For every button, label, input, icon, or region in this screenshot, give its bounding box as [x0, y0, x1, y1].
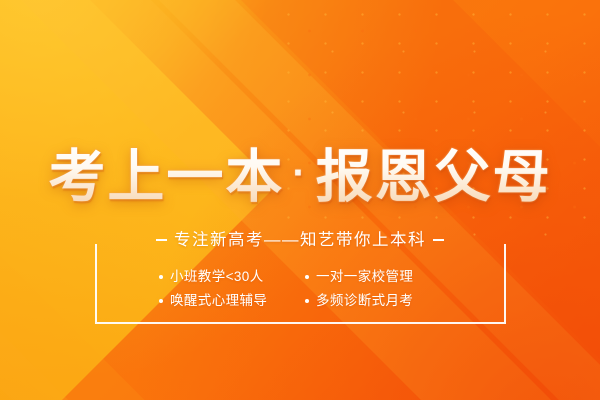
subtitle: 专注新高考——知艺带你上本科: [174, 230, 426, 250]
headline: 考上一本·报恩父母: [0, 142, 600, 208]
headline-separator-dot: ·: [284, 151, 315, 195]
feature-label: 唤醒式心理辅导: [170, 292, 267, 310]
bullet-dot-icon: [159, 299, 163, 303]
bullet-dot-icon: [305, 275, 309, 279]
feature-list: 小班教学<30人 一对一家校管理 唤醒式心理辅导 多频诊断式月考: [0, 268, 600, 310]
bullet-dot-icon: [305, 299, 309, 303]
list-item: 一对一家校管理: [305, 268, 441, 286]
feature-label: 小班教学<30人: [170, 268, 264, 286]
promo-banner: 考上一本·报恩父母 专注新高考——知艺带你上本科 小班教学<30人 一对一家校管…: [0, 0, 600, 400]
list-item: 唤醒式心理辅导: [159, 292, 295, 310]
headline-left: 考上一本: [48, 145, 284, 209]
list-item: 小班教学<30人: [159, 268, 295, 286]
list-item: 多频诊断式月考: [305, 292, 441, 310]
headline-right: 报恩父母: [316, 145, 552, 209]
subtitle-row: 专注新高考——知艺带你上本科: [0, 230, 600, 250]
feature-label: 多频诊断式月考: [316, 292, 413, 310]
bullet-dot-icon: [159, 275, 163, 279]
subtitle-left-tick-icon: [156, 239, 167, 241]
subtitle-right-tick-icon: [433, 239, 444, 241]
feature-label: 一对一家校管理: [316, 268, 413, 286]
